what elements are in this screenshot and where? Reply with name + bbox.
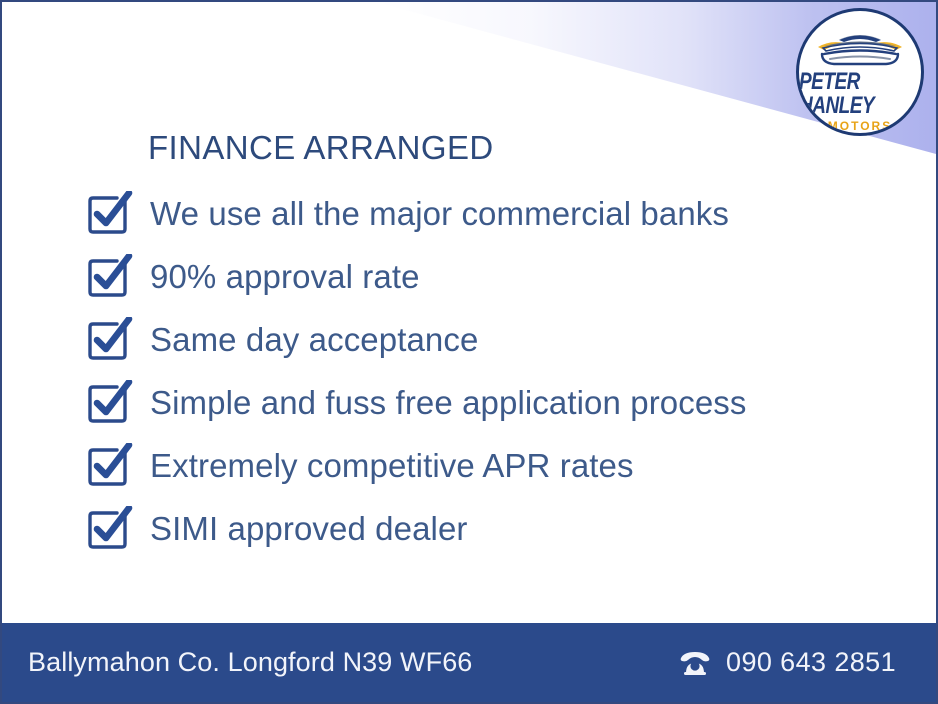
feature-list: We use all the major commercial banks 90… [84,182,864,560]
list-item-label: SIMI approved dealer [150,511,468,547]
list-item-label: Simple and fuss free application process [150,385,747,421]
list-item: Simple and fuss free application process [84,371,864,434]
list-item-label: 90% approval rate [150,259,420,295]
list-item: 90% approval rate [84,245,864,308]
content-block: FINANCE ARRANGED We use all the major co… [84,130,864,560]
list-item: Same day acceptance [84,308,864,371]
list-item: SIMI approved dealer [84,497,864,560]
list-item: Extremely competitive APR rates [84,434,864,497]
logo-name: PETER HANLEY [799,70,921,118]
footer-phone-number: 090 643 2851 [726,647,896,678]
page-title: FINANCE ARRANGED [148,130,864,166]
finance-arranged-poster: PETER HANLEY MOTORS FINANCE ARRANGED We … [0,0,938,704]
checkbox-checked-icon [84,317,136,363]
list-item: We use all the major commercial banks [84,182,864,245]
checkbox-checked-icon [84,254,136,300]
list-item-label: Same day acceptance [150,322,478,358]
list-item-label: We use all the major commercial banks [150,196,729,232]
footer-bar: Ballymahon Co. Longford N39 WF66 090 643… [2,623,936,702]
dealer-logo: PETER HANLEY MOTORS [796,8,924,136]
telephone-icon [678,649,712,677]
footer-address: Ballymahon Co. Longford N39 WF66 [28,647,472,678]
checkbox-checked-icon [84,506,136,552]
checkbox-checked-icon [84,191,136,237]
checkbox-checked-icon [84,380,136,426]
footer-phone-group: 090 643 2851 [678,647,910,678]
car-front-icon [814,27,906,72]
checkbox-checked-icon [84,443,136,489]
list-item-label: Extremely competitive APR rates [150,448,634,484]
